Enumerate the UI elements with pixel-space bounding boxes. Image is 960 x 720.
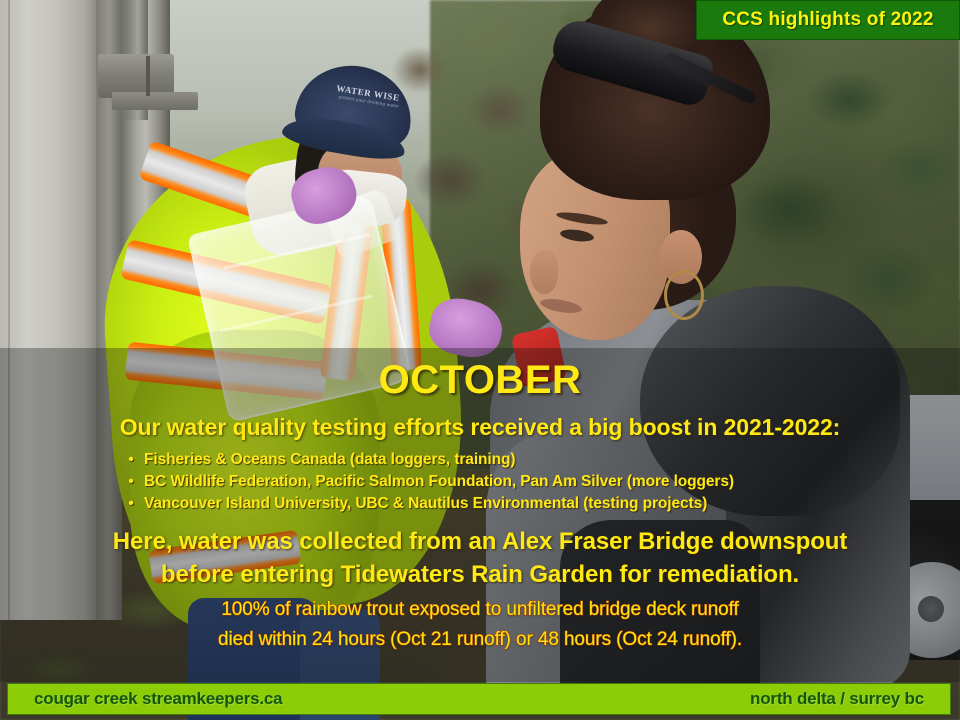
note-line-1: 100% of rainbow trout exposed to unfilte… [0,599,960,621]
list-item: • Fisheries & Oceans Canada (data logger… [118,450,948,472]
second-person-nose [530,250,558,294]
list-item: • BC Wildlife Federation, Pacific Salmon… [118,472,948,494]
month-title: OCTOBER [0,358,960,403]
caption-line-1: Here, water was collected from an Alex F… [0,528,960,556]
header-banner-text: CCS highlights of 2022 [722,9,933,31]
bullet-dot-icon: • [118,472,144,492]
footer-bar: cougar creek streamkeepers.ca north delt… [7,683,951,715]
pole-bolt [146,56,150,96]
header-banner: CCS highlights of 2022 [696,0,960,40]
pole-bracket-lower [112,92,198,110]
subtitle-text: Our water quality testing efforts receiv… [0,414,960,441]
bullet-list: • Fisheries & Oceans Canada (data logger… [118,450,948,516]
note-line-2: died within 24 hours (Oct 21 runoff) or … [0,629,960,651]
list-item: • Vancouver Island University, UBC & Nau… [118,494,948,516]
footer-website-text: cougar creek streamkeepers.ca [34,689,282,709]
bullet-text: Vancouver Island University, UBC & Nauti… [144,494,707,514]
bullet-text: BC Wildlife Federation, Pacific Salmon F… [144,472,734,492]
footer-location-text: north delta / surrey bc [750,689,924,709]
hoop-earring [664,270,704,320]
bullet-dot-icon: • [118,450,144,470]
bullet-dot-icon: • [118,494,144,514]
caption-line-2: before entering Tidewaters Rain Garden f… [0,561,960,589]
slide-root: WATER WISE protect your drinking water C… [0,0,960,720]
bullet-text: Fisheries & Oceans Canada (data loggers,… [144,450,515,470]
